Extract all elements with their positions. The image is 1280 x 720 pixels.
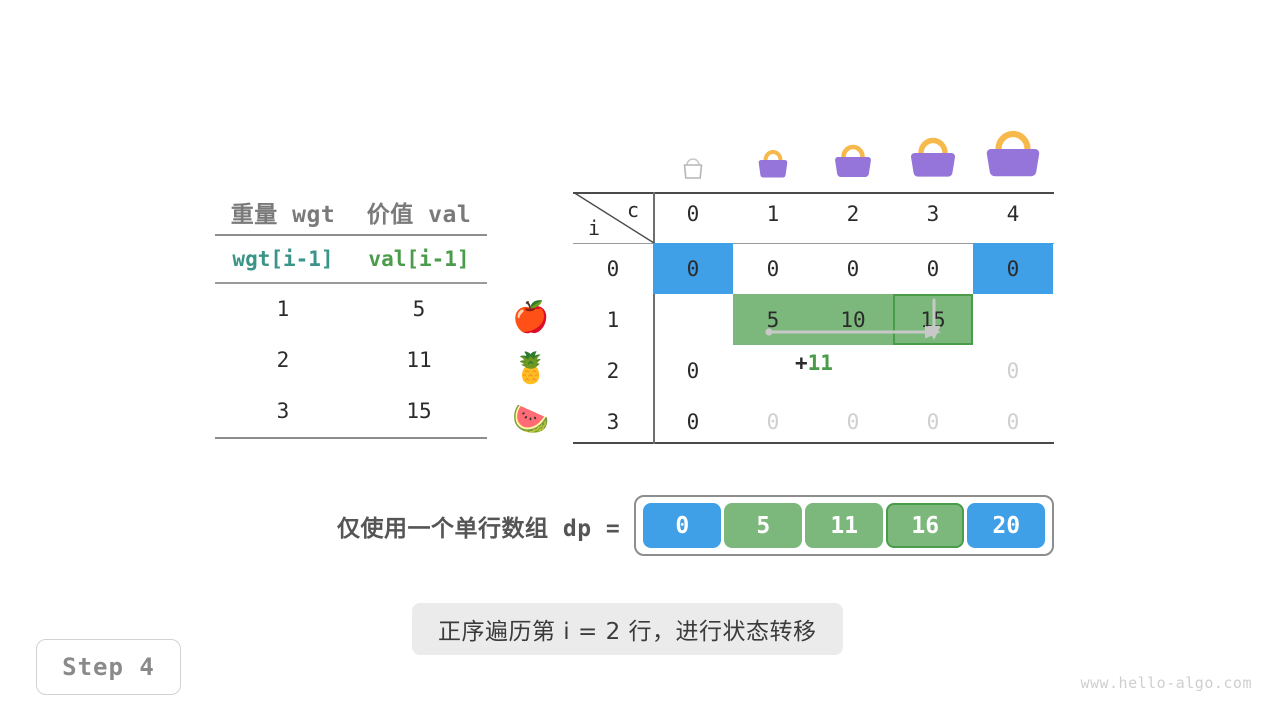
matrix-cell-r3c1: 0: [733, 396, 813, 447]
item-table-row-1: 1 5: [215, 284, 487, 335]
matrix-cell-r2c3: 16: [893, 345, 973, 396]
watermelon-emoji: 🍉: [508, 405, 554, 435]
transition-increment-sign: +: [795, 351, 808, 375]
matrix-cell-r0c2: 0: [813, 243, 893, 294]
item-weight-value-table: 重量 wgt 价值 val wgt[i-1] val[i-1] 1 5 2 11…: [215, 190, 487, 439]
matrix-cell-r3c4: 0: [973, 396, 1053, 447]
step-badge: Step 4: [36, 639, 181, 695]
bag-icon-size-2: [833, 140, 873, 180]
matrix-corner-label-c: c: [627, 198, 639, 222]
matrix-cell-r3c0: 0: [653, 396, 733, 447]
matrix-col-header-1: 1: [733, 202, 813, 226]
dp-array-cell-4[interactable]: 20: [967, 503, 1045, 548]
matrix-cell-r0c1: 0: [733, 243, 813, 294]
item-val-1: 5: [351, 297, 487, 321]
item-table-header-weight: 重量 wgt: [215, 195, 351, 229]
watermark: www.hello-algo.com: [1080, 674, 1252, 692]
matrix-cell-r2c0: 0: [653, 345, 733, 396]
item-table-subheader-row: wgt[i-1] val[i-1]: [215, 236, 487, 282]
matrix-cell-r3c3: 0: [893, 396, 973, 447]
matrix-col-header-2: 2: [813, 202, 893, 226]
matrix-row-header-0: 0: [573, 257, 653, 281]
item-val-3: 15: [351, 399, 487, 423]
bag-icon-size-3: [908, 132, 958, 180]
transition-increment-value: 11: [808, 351, 833, 375]
matrix-col-header-0: 0: [653, 202, 733, 226]
item-wgt-1: 1: [215, 297, 351, 321]
bag-icon-empty: [681, 158, 705, 180]
dp-array-section: 仅使用一个单行数组 dp = 0 5 11 16 20: [337, 495, 1054, 556]
dp-array-label: 仅使用一个单行数组 dp =: [337, 509, 620, 543]
dp-array-cell-3[interactable]: 16: [886, 503, 964, 548]
item-table-subheader-val: val[i-1]: [351, 247, 487, 271]
item-table-subheader-wgt: wgt[i-1]: [215, 247, 351, 271]
horizontal-transition-arrow: [765, 324, 945, 340]
matrix-cell-r0c4: 0: [973, 243, 1053, 294]
matrix-row-header-3: 3: [573, 410, 653, 434]
matrix-row-header-1: 1: [573, 308, 653, 332]
item-table-row-2: 2 11: [215, 335, 487, 386]
matrix-corner-diagonal: [573, 192, 655, 244]
item-val-2: 11: [351, 348, 487, 372]
apple-emoji: 🍎: [508, 303, 554, 333]
pineapple-emoji: 🍍: [508, 354, 554, 384]
bag-icon-size-4: [983, 124, 1043, 180]
item-wgt-2: 2: [215, 348, 351, 372]
dp-array-cell-0[interactable]: 0: [643, 503, 721, 548]
item-wgt-3: 3: [215, 399, 351, 423]
matrix-cell-r0c3: 0: [893, 243, 973, 294]
item-table-header-value: 价值 val: [351, 195, 487, 229]
transition-increment-annotation: +11: [795, 351, 833, 375]
matrix-cell-r3c2: 0: [813, 396, 893, 447]
matrix-col-header-3: 3: [893, 202, 973, 226]
item-table-row-3: 3 15: [215, 386, 487, 437]
item-table-header-row: 重量 wgt 价值 val: [215, 190, 487, 234]
matrix-cell-r0c0: 0: [653, 243, 733, 294]
matrix-cell-r1c4: 20: [973, 294, 1053, 345]
matrix-row-header-2: 2: [573, 359, 653, 383]
bag-icon-size-1: [757, 146, 789, 180]
dp-array-cell-2[interactable]: 11: [805, 503, 883, 548]
matrix-col-header-4: 4: [973, 202, 1053, 226]
dp-array-cell-1[interactable]: 5: [724, 503, 802, 548]
step-caption: 正序遍历第 i = 2 行，进行状态转移: [412, 603, 843, 655]
slide-canvas: 重量 wgt 价值 val wgt[i-1] val[i-1] 1 5 2 11…: [0, 0, 1280, 720]
matrix-corner-label-i: i: [588, 216, 600, 240]
dp-array-container: 0 5 11 16 20: [634, 495, 1054, 556]
matrix-cell-r1c0: 0: [653, 294, 733, 345]
dp-matrix-table: c i 0 1 2 3 4 0 1 2 3 0 0 0 0 0 0 5 10 1…: [573, 192, 1054, 444]
matrix-cell-r2c4: 0: [973, 345, 1053, 396]
item-table-rule-bottom: [215, 437, 487, 439]
